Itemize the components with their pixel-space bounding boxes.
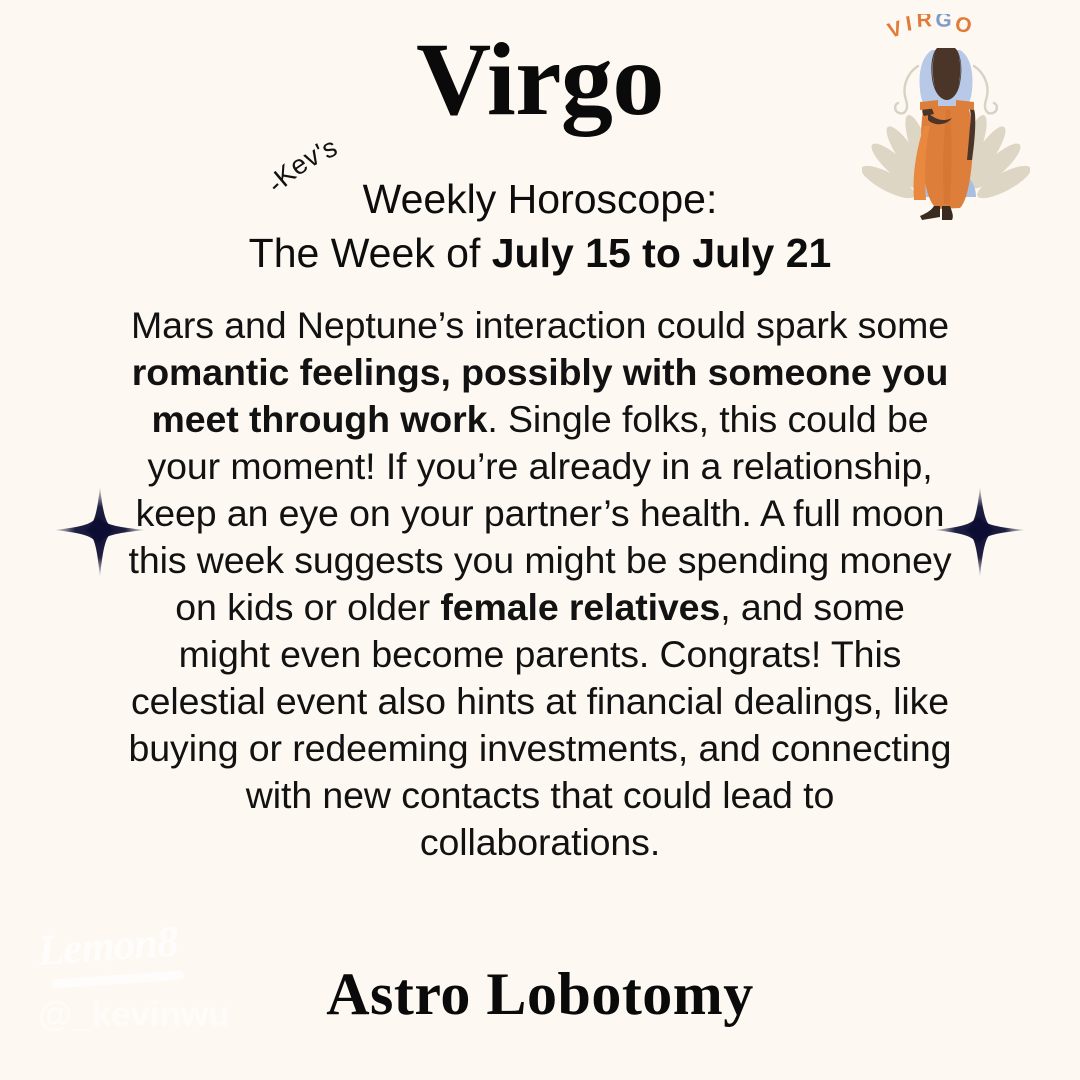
subtitle-date-range: July 15 to July 21 xyxy=(492,230,832,276)
sparkle-icon xyxy=(52,484,148,580)
horoscope-body-text: Mars and Neptune’s interaction could spa… xyxy=(128,302,952,866)
subtitle-line-1: Weekly Horoscope: xyxy=(363,176,718,222)
body-text-run: Mars and Neptune’s interaction could spa… xyxy=(131,304,949,346)
body-emphasis: female relatives xyxy=(440,586,720,628)
brand-footer: Astro Lobotomy xyxy=(0,960,1080,1029)
subtitle-week-prefix: The Week of xyxy=(249,230,492,276)
horoscope-card: V I R G O Virgo -Kev's Weekly Horoscope:… xyxy=(0,0,1080,1080)
sparkle-icon xyxy=(932,484,1028,580)
subtitle-block: Weekly Horoscope: The Week of July 15 to… xyxy=(0,172,1080,280)
subtitle-line-2: The Week of July 15 to July 21 xyxy=(0,226,1080,280)
page-title: Virgo xyxy=(0,28,1080,132)
